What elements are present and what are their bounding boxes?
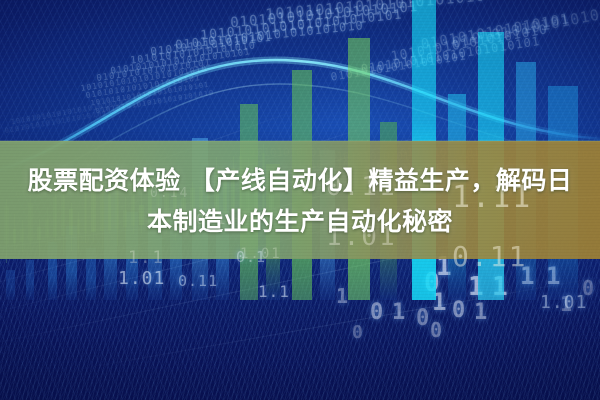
overlay-number-lower: 1.01 xyxy=(540,292,587,313)
title-line-1: 股票配资体验 【产线自动化】精益生产，解码日 xyxy=(0,160,600,201)
overlay-number-lower: 0.11 xyxy=(178,272,218,290)
overlay-number-lower: 0.1 xyxy=(236,248,266,266)
title-line-2: 本制造业的生产自动化秘密 xyxy=(0,201,600,242)
overlay-number: 1.1 xyxy=(128,248,165,268)
overlay-number-lower: 1.1 xyxy=(258,282,290,301)
title-block: 股票配资体验 【产线自动化】精益生产，解码日 本制造业的生产自动化秘密 xyxy=(0,160,600,242)
hero-banner-image: 0101010101010101010101010101010101010101… xyxy=(0,0,600,400)
overlay-number: 0.11 xyxy=(452,240,527,273)
overlay-number-lower: 1.01 xyxy=(118,268,165,289)
